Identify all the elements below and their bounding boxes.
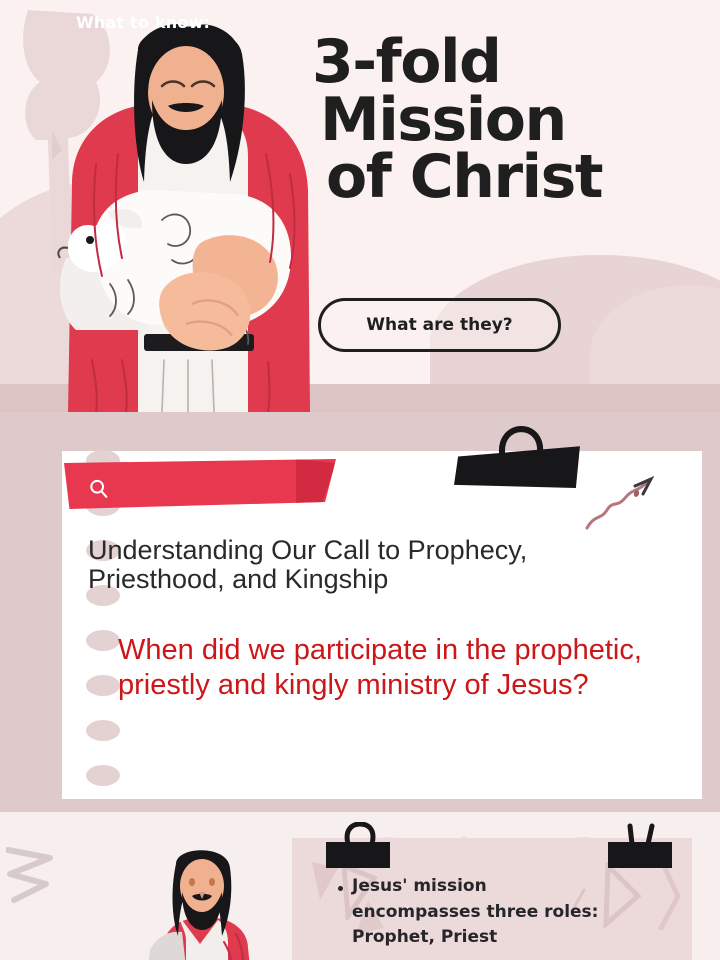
binder-clip-icon (452, 426, 584, 492)
bullet-marker (338, 886, 343, 891)
jesus-portrait-illustration (120, 842, 280, 960)
what-are-they-label: What are they? (366, 315, 512, 335)
binder-clip-icon (322, 822, 394, 870)
bottom-bullet-text: Jesus' mission encompasses three roles: … (352, 874, 602, 951)
what-to-know-label: What to know: (76, 13, 210, 32)
card-heading: Understanding Our Call to Prophecy, Prie… (88, 536, 538, 594)
bottom-section: Jesus' mission encompasses three roles: … (0, 812, 720, 960)
slide-page: 3-fold Mission of Christ What are they? … (0, 0, 720, 960)
search-icon (88, 478, 110, 500)
triangle-doodle-icon (600, 862, 644, 928)
binder-clip-prongs-icon (604, 822, 676, 870)
zigzag-doodle-icon (6, 844, 56, 904)
jesus-holding-lamb-illustration (52, 14, 322, 412)
binder-hole (86, 765, 120, 786)
title-line-2: Mission (320, 92, 708, 150)
binder-hole (86, 720, 120, 741)
what-are-they-button[interactable]: What are they? (318, 298, 561, 352)
title-line-3: of Christ (326, 149, 708, 207)
binder-hole (86, 630, 120, 651)
title-line-1: 3-fold (312, 34, 708, 92)
binder-hole (86, 675, 120, 696)
card-question: When did we participate in the prophetic… (118, 633, 658, 704)
squiggle-arrow-icon (585, 474, 657, 532)
page-title: 3-fold Mission of Christ (312, 34, 708, 207)
hero-section: 3-fold Mission of Christ What are they? (0, 0, 720, 412)
